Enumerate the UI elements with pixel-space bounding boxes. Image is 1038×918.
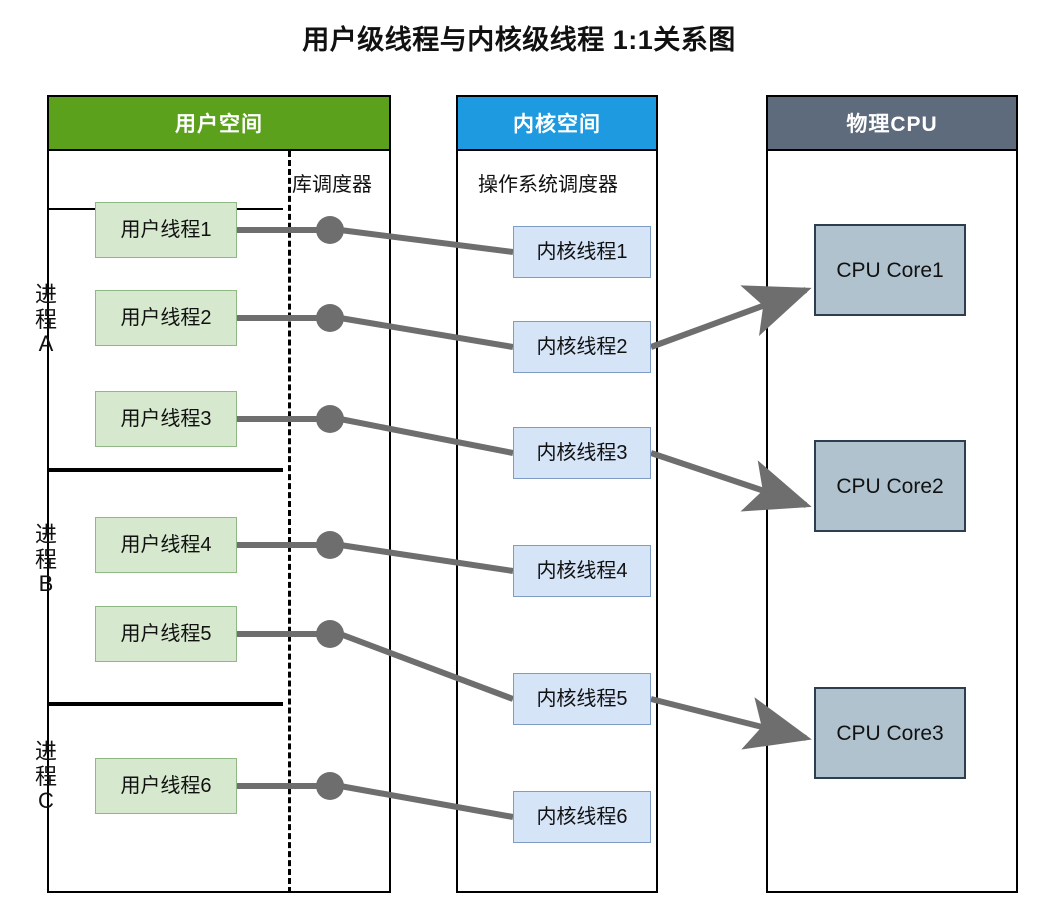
- scheduler-dot-6[interactable]: [316, 772, 344, 800]
- scheduler-dot-5[interactable]: [316, 620, 344, 648]
- process-label-b: 进程 B: [26, 523, 66, 597]
- scheduler-dot-2[interactable]: [316, 304, 344, 332]
- user-thread-2[interactable]: 用户线程2: [95, 290, 237, 346]
- user-thread-3[interactable]: 用户线程3: [95, 391, 237, 447]
- scheduler-dot-4[interactable]: [316, 531, 344, 559]
- user-thread-5[interactable]: 用户线程5: [95, 606, 237, 662]
- user-thread-6[interactable]: 用户线程6: [95, 758, 237, 814]
- process-label-a: 进程 A: [26, 283, 66, 357]
- kernel-thread-4[interactable]: 内核线程4: [513, 545, 651, 597]
- kernel-thread-6[interactable]: 内核线程6: [513, 791, 651, 843]
- process-b-id: B: [26, 572, 66, 597]
- kernel-thread-2[interactable]: 内核线程2: [513, 321, 651, 373]
- kernel-thread-5[interactable]: 内核线程5: [513, 673, 651, 725]
- user-thread-1[interactable]: 用户线程1: [95, 202, 237, 258]
- kernel-thread-3[interactable]: 内核线程3: [513, 427, 651, 479]
- scheduler-dot-1[interactable]: [316, 216, 344, 244]
- cpu-core-3[interactable]: CPU Core3: [814, 687, 966, 779]
- cpu-core-2[interactable]: CPU Core2: [814, 440, 966, 532]
- process-a-id: A: [26, 332, 66, 357]
- cpu-core-1[interactable]: CPU Core1: [814, 224, 966, 316]
- user-thread-4[interactable]: 用户线程4: [95, 517, 237, 573]
- process-label-c: 进程 C: [26, 740, 66, 814]
- process-c-id: C: [26, 789, 66, 814]
- process-a-name: 进程: [26, 283, 66, 332]
- scheduler-dot-3[interactable]: [316, 405, 344, 433]
- process-c-name: 进程: [26, 740, 66, 789]
- process-b-name: 进程: [26, 523, 66, 572]
- kernel-thread-1[interactable]: 内核线程1: [513, 226, 651, 278]
- process-bracket-b: [47, 470, 283, 704]
